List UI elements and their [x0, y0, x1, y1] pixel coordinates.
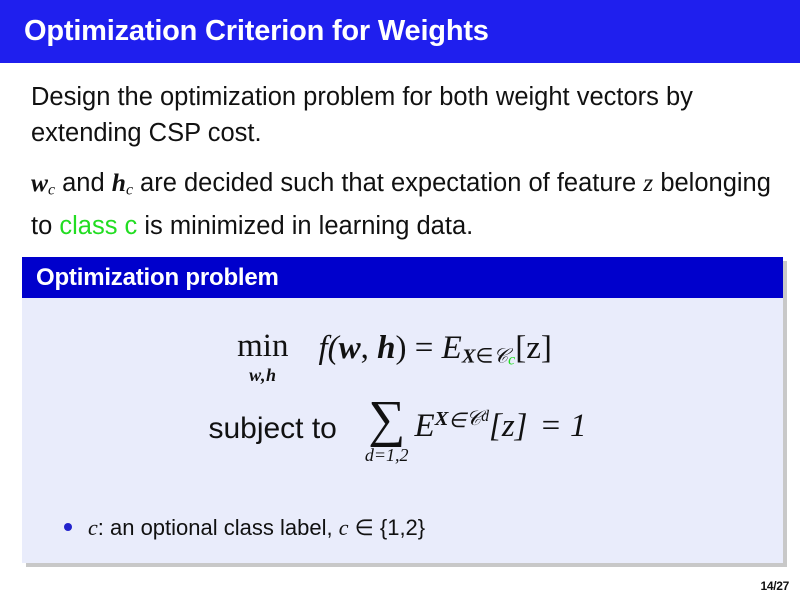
block-header-title: Optimization problem — [36, 264, 279, 292]
equation-objective: min w,h f(w, h) = EX∈𝒞c[z] — [6, 324, 783, 384]
constraint-expression: EX∈𝒞d[z]= 1 — [415, 396, 587, 445]
bullet-note-text: c: an optional class label, c ∈ {1,2} — [88, 515, 425, 541]
block-header: Optimization problem — [22, 257, 783, 298]
symbol-z: z — [643, 168, 653, 197]
summation-operator: ∑ d=1,2 — [365, 396, 409, 464]
expectation-sub-class-set: 𝒞 — [493, 346, 508, 368]
equations-container: min w,h f(w, h) = EX∈𝒞c[z] subject to ∑ … — [22, 324, 783, 464]
block-body: min w,h f(w, h) = EX∈𝒞c[z] subject to ∑ … — [22, 298, 783, 563]
bullet-var-c: c — [88, 515, 98, 540]
constraint-sub-class-set: 𝒞 — [466, 408, 481, 431]
symbol-w-subscript: c — [48, 181, 55, 198]
optimization-problem-block: Optimization problem min w,h f(w, h) = E… — [22, 257, 783, 563]
subject-to-label: subject to — [208, 396, 336, 446]
expectation-sub-X: X — [462, 346, 476, 368]
block-inner: Optimization problem min w,h f(w, h) = E… — [22, 257, 783, 563]
text-are-decided: are decided such that expectation of fea… — [133, 169, 643, 197]
objective-expression: f(w, h) = EX∈𝒞c[z] — [318, 324, 551, 370]
objective-comma: , — [361, 330, 378, 366]
constraint-bracket-z: [z] — [489, 408, 528, 445]
highlight-class-c: class c — [59, 212, 137, 240]
objective-bracket-z: [z] — [515, 330, 552, 366]
f-open: f( — [318, 330, 338, 366]
symbol-h: h — [112, 168, 126, 197]
sigma-subscript: d=1,2 — [365, 446, 409, 464]
bullet-var-c2: c — [339, 515, 349, 540]
objective-var-h: h — [377, 330, 395, 366]
text-and: and — [55, 169, 112, 197]
text-is-minimized: is minimized in learning data. — [137, 212, 473, 240]
min-operator-label: min — [237, 330, 288, 363]
list-item: c: an optional class label, c ∈ {1,2} — [64, 515, 425, 541]
bullet-description: : an optional class label, — [98, 515, 339, 540]
min-operator: min w,h — [237, 324, 288, 384]
symbol-w: w — [31, 168, 48, 197]
constraint-expectation-symbol: E — [415, 408, 435, 445]
equation-constraint: subject to ∑ d=1,2 EX∈𝒞d[z]= 1 — [12, 396, 783, 464]
objective-equals: ) = — [396, 330, 442, 366]
constraint-sub-X: X — [435, 408, 449, 431]
constraint-sub-in-icon: ∈ — [448, 408, 466, 433]
page-title: Optimization Criterion for Weights — [24, 14, 489, 47]
bullet-membership: ∈ {1,2} — [348, 515, 425, 540]
min-operator-subscript: w,h — [249, 366, 276, 384]
objective-var-w: w — [339, 330, 361, 366]
paragraph-weight-definition: wc and hc are decided such that expectat… — [31, 165, 773, 244]
paragraph-design-statement: Design the optimization problem for both… — [31, 79, 773, 151]
constraint-sub-d: d — [481, 408, 489, 426]
sigma-icon: ∑ — [368, 396, 405, 444]
constraint-equals-one: = 1 — [528, 408, 587, 445]
slide-title-bar: Optimization Criterion for Weights — [0, 0, 800, 63]
page-number: 14/27 — [760, 579, 789, 593]
expectation-symbol: E — [442, 330, 462, 366]
bullet-dot-icon — [64, 523, 72, 531]
expectation-sub-in-icon: ∈ — [475, 346, 493, 368]
symbol-h-subscript: c — [126, 181, 133, 198]
